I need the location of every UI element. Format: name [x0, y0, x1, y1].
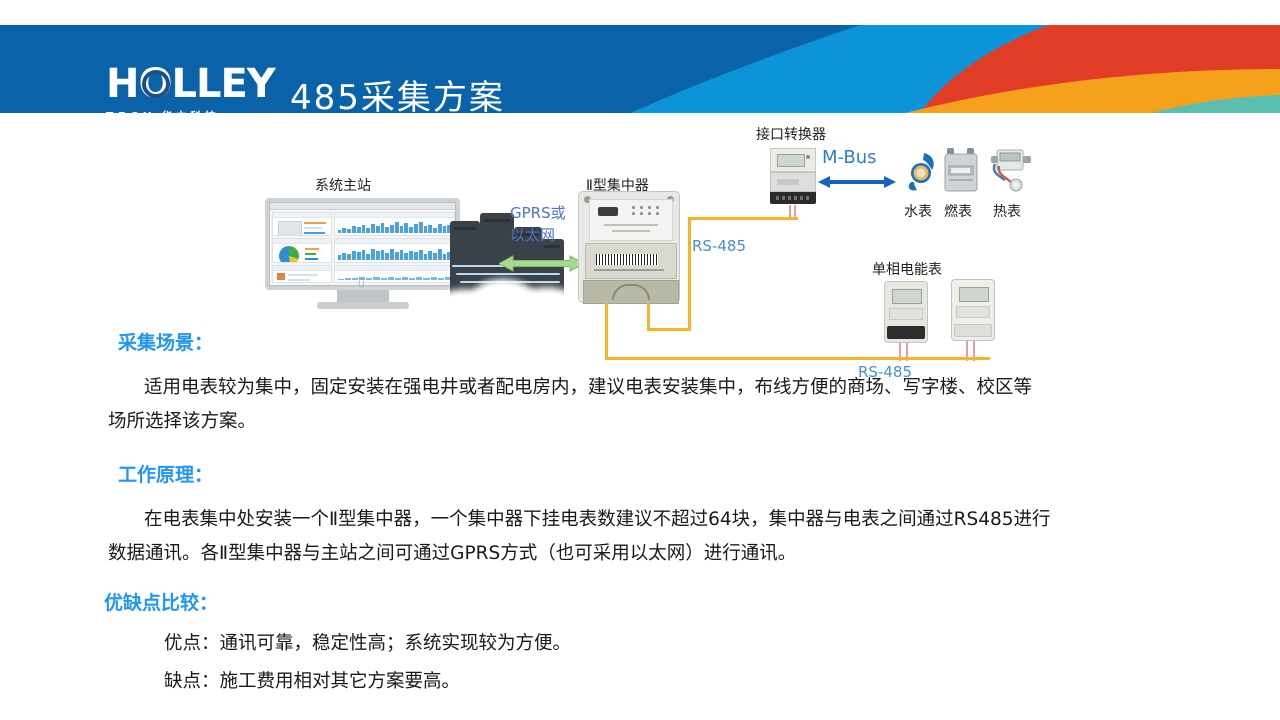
label-converter: 接口转换器: [756, 124, 826, 144]
section-heading-collection-scenario: 采集场景：: [118, 328, 213, 355]
monitor-base: [317, 302, 409, 309]
gprs-double-arrow-icon: [499, 255, 584, 272]
meter-2-terminal: [954, 324, 992, 337]
pie-chart: [279, 246, 299, 262]
converter-display: [777, 154, 805, 167]
page-header: HOLLEY TECH 华立科技 485采集方案: [0, 25, 1280, 113]
logo-tech-text: TECH: [106, 110, 156, 114]
meter-1-display: [892, 289, 922, 304]
monitor-bezel: [265, 198, 460, 290]
bar-chart-1: [338, 220, 451, 233]
master-station-monitor: : [265, 198, 460, 310]
section1-paragraph-line2: 场所选择该方案。: [108, 405, 1203, 439]
section2-paragraph-line1: 在电表集中处安装一个Ⅱ型集中器，一个集中器下挂电表数建议不超过64块，集中器与电…: [108, 503, 1218, 537]
dashboard-card-bars-1: [334, 212, 455, 236]
converter-middle: [770, 172, 816, 192]
label-gas-meter: 燃表: [944, 201, 972, 221]
heat-meter-icon: [985, 146, 1033, 194]
concentrator-device: [578, 191, 680, 316]
dashboard-topbar: [270, 203, 455, 210]
dashboard-card-pie: [272, 238, 332, 262]
cloud-graphic: [432, 273, 592, 319]
label-water-meter: 水表: [904, 201, 932, 221]
bar-chart-2: [338, 246, 451, 259]
label-single-phase-meter: 单相电能表: [872, 259, 942, 279]
water-meter-icon: [902, 151, 944, 193]
meter-2-body: [951, 279, 995, 341]
dashboard-grid: [270, 210, 455, 285]
concentrator-nameplate: [585, 243, 677, 279]
rs485-label-upper: RS-485: [692, 237, 746, 255]
section-heading-working-principle: 工作原理：: [118, 460, 213, 487]
interface-converter-device: [770, 148, 816, 210]
concentrator-display: [598, 207, 618, 216]
concentrator-indicator-lights: [632, 206, 659, 215]
rs485-wire-mid-horizontal: [647, 328, 691, 331]
concentrator-panel: [589, 199, 673, 241]
logo-ring-icon: [142, 70, 170, 98]
concentrator-terminal-block: [583, 280, 679, 304]
section1-paragraph-line1: 适用电表较为集中，固定安装在强电井或者配电房内，建议电表安装集中，布线方便的商场…: [108, 371, 1203, 405]
section-heading-pros-cons: 优缺点比较：: [104, 588, 218, 615]
single-phase-meter-1: [884, 281, 928, 343]
concentrator-body: [578, 191, 680, 303]
converter-terminal: [770, 192, 816, 204]
page-title: 485采集方案: [290, 70, 505, 113]
rs485-wire-vertical-2: [647, 303, 650, 331]
cons-text: 缺点：施工费用相对其它方案要高。: [164, 666, 460, 698]
meter-1-terminal: [887, 326, 925, 339]
meter-1-nameplate: [889, 308, 923, 320]
logo-subtitle: TECH 华立科技: [106, 108, 262, 113]
meter-1-body: [884, 281, 928, 343]
holley-logo: HOLLEY TECH 华立科技: [106, 65, 262, 113]
meter-2-display: [959, 287, 989, 302]
dashboard-card-table: [272, 212, 332, 236]
rs485-wire-vertical-3: [605, 303, 608, 358]
rs485-wire-bottom-horizontal: [605, 357, 990, 360]
logo-chinese-text: 华立科技: [161, 108, 219, 113]
rs485-wire-vertical-1: [688, 217, 691, 331]
section2-paragraph-line2: 数据通讯。各Ⅱ型集中器与主站之间可通过GPRS方式（也可采用以太网）进行通讯。: [108, 537, 1218, 571]
logo-wordmark: HOLLEY: [106, 65, 262, 105]
meter-2-nameplate: [956, 306, 990, 318]
mbus-double-arrow-icon: [818, 175, 896, 189]
single-phase-meter-2: [951, 279, 995, 341]
gas-meter-icon: [941, 146, 981, 194]
apple-logo-icon: : [359, 278, 364, 288]
gprs-label-line1: GPRS或: [510, 204, 566, 223]
pros-text: 优点：通讯可靠，稳定性高；系统实现较为方便。: [164, 628, 571, 660]
dashboard-card-bars-2: [334, 238, 455, 262]
mbus-label: M-Bus: [822, 147, 877, 168]
converter-top: [770, 148, 816, 172]
dashboard-card-list: [272, 265, 332, 283]
label-heat-meter: 热表: [993, 201, 1021, 221]
barcode-icon: [596, 254, 658, 265]
label-master-station: 系统主站: [315, 175, 371, 195]
gprs-label-line2: 以太网: [510, 226, 555, 245]
monitor-screen: [269, 202, 456, 286]
rs485-wire-top-horizontal: [688, 217, 798, 220]
